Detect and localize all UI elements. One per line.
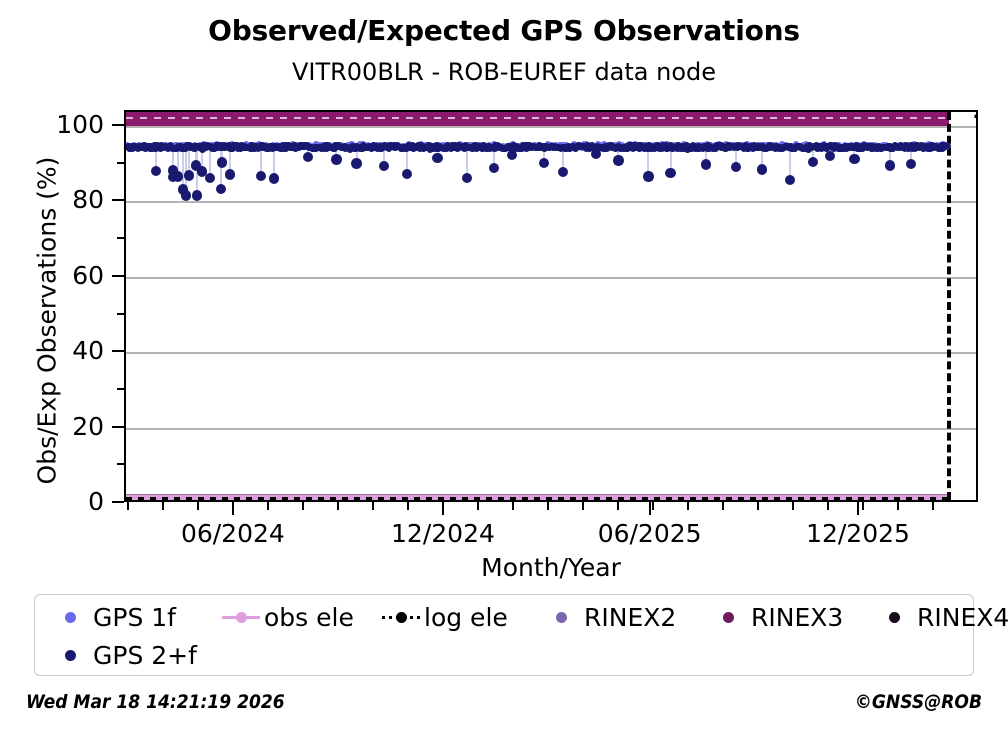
- data-point: [944, 143, 951, 150]
- data-point: [462, 173, 472, 183]
- y-tick-label: 80: [30, 187, 104, 212]
- x-tick-minor: [127, 502, 129, 510]
- data-point: [701, 159, 711, 169]
- now-label: Now: [971, 110, 978, 120]
- data-point: [205, 173, 216, 184]
- data-point: [757, 164, 767, 174]
- scatter-points: [126, 112, 976, 500]
- x-tick-minor: [337, 502, 339, 510]
- data-point: [225, 169, 236, 180]
- y-tick-minor: [117, 388, 124, 390]
- x-axis-label: Month/Year: [124, 553, 978, 582]
- x-tick-minor: [652, 502, 654, 510]
- x-tick-minor: [582, 502, 584, 510]
- y-tick-label: 100: [30, 112, 104, 137]
- legend-marker-icon: [707, 605, 749, 629]
- data-point: [906, 159, 916, 169]
- legend-marker-icon: [873, 605, 915, 629]
- x-tick-minor: [617, 502, 619, 510]
- data-point: [351, 158, 361, 168]
- data-point: [643, 171, 653, 181]
- x-tick-minor: [302, 502, 304, 510]
- data-point: [825, 151, 835, 161]
- x-tick: [649, 502, 651, 515]
- legend-item-rinex3[interactable]: RINEX3: [707, 603, 843, 632]
- legend: GPS 1fobs elelog eleRINEX2RINEX3RINEX4 G…: [34, 594, 974, 676]
- y-tick: [112, 426, 124, 428]
- data-point: [539, 158, 549, 168]
- x-tick: [442, 502, 444, 515]
- data-point: [303, 152, 313, 162]
- x-tick-minor: [722, 502, 724, 510]
- data-point: [731, 162, 741, 172]
- x-tick-minor: [897, 502, 899, 510]
- x-tick-minor: [547, 502, 549, 510]
- legend-marker-icon: [220, 605, 262, 629]
- legend-item-gps-2-f[interactable]: GPS 2+f: [49, 641, 197, 670]
- y-tick-label: 60: [30, 263, 104, 288]
- y-tick-minor: [117, 463, 124, 465]
- legend-item-label: RINEX3: [749, 603, 843, 632]
- x-tick-minor: [792, 502, 794, 510]
- y-tick: [112, 501, 124, 503]
- legend-item-gps-1f[interactable]: GPS 1f: [49, 603, 176, 632]
- now-line: [947, 112, 951, 500]
- y-axis-label: Obs/Exp Observations (%): [33, 111, 62, 531]
- data-point: [849, 154, 859, 164]
- data-point: [591, 149, 601, 159]
- x-tick-minor: [827, 502, 829, 510]
- y-tick: [112, 124, 124, 126]
- data-point: [269, 173, 279, 183]
- legend-marker-icon: [540, 605, 582, 629]
- data-point: [489, 163, 499, 173]
- page-title: Observed/Expected GPS Observations: [0, 14, 1008, 47]
- y-tick: [112, 199, 124, 201]
- data-point: [192, 190, 202, 200]
- x-tick: [232, 502, 234, 515]
- legend-item-label: GPS 2+f: [91, 641, 197, 670]
- y-tick-minor: [117, 313, 124, 315]
- chart-subtitle: VITR00BLR - ROB-EUREF data node: [0, 58, 1008, 86]
- outlier-stem: [182, 147, 184, 189]
- x-tick-minor: [372, 502, 374, 510]
- legend-item-label: log ele: [422, 603, 508, 632]
- x-tick-label: 06/2024: [153, 519, 313, 548]
- x-tick-minor: [197, 502, 199, 510]
- x-tick: [857, 502, 859, 515]
- data-point: [665, 168, 675, 178]
- x-tick-minor: [267, 502, 269, 510]
- x-tick-label: 06/2025: [570, 519, 730, 548]
- legend-item-rinex2[interactable]: RINEX2: [540, 603, 676, 632]
- legend-row: GPS 2+f: [35, 636, 973, 674]
- x-tick-minor: [862, 502, 864, 510]
- data-point: [216, 184, 226, 194]
- legend-item-label: RINEX4: [915, 603, 1008, 632]
- data-point: [507, 150, 517, 160]
- data-point: [256, 171, 266, 181]
- y-tick-label: 20: [30, 414, 104, 439]
- x-tick-minor: [687, 502, 689, 510]
- data-point: [217, 157, 228, 168]
- data-point: [331, 154, 341, 164]
- legend-marker-icon: [49, 605, 91, 629]
- footer-copyright: ©GNSS@ROB: [855, 691, 982, 713]
- x-tick-minor: [512, 502, 514, 510]
- data-point: [885, 160, 895, 170]
- x-tick-label: 12/2025: [778, 519, 938, 548]
- y-tick-label: 0: [30, 489, 104, 514]
- x-tick-minor: [757, 502, 759, 510]
- legend-row: GPS 1fobs elelog eleRINEX2RINEX3RINEX4: [35, 598, 973, 636]
- y-tick-minor: [117, 237, 124, 239]
- legend-marker-icon: [380, 605, 422, 629]
- legend-item-label: GPS 1f: [91, 603, 176, 632]
- chart-page: Observed/Expected GPS Observations VITR0…: [0, 0, 1008, 734]
- y-tick-minor: [117, 162, 124, 164]
- x-tick-label: 12/2024: [363, 519, 523, 548]
- data-point: [181, 190, 192, 201]
- legend-item-label: RINEX2: [582, 603, 676, 632]
- y-tick-label: 40: [30, 338, 104, 363]
- data-point: [151, 166, 161, 176]
- legend-item-obs-ele[interactable]: obs ele: [220, 603, 354, 632]
- data-point: [785, 175, 795, 185]
- data-point: [613, 155, 623, 165]
- data-point: [184, 170, 195, 181]
- footer-timestamp: Wed Mar 18 14:21:19 2026: [26, 691, 285, 713]
- legend-marker-icon: [49, 643, 91, 667]
- legend-item-rinex4[interactable]: RINEX4: [873, 603, 1008, 632]
- plot-area: Now: [124, 110, 978, 502]
- data-point: [432, 153, 442, 163]
- data-point: [558, 167, 568, 177]
- y-tick: [112, 350, 124, 352]
- legend-item-log-ele[interactable]: log ele: [380, 603, 508, 632]
- x-tick-minor: [407, 502, 409, 510]
- y-tick: [112, 275, 124, 277]
- data-point: [402, 169, 412, 179]
- legend-item-label: obs ele: [262, 603, 354, 632]
- x-tick-minor: [932, 502, 934, 510]
- x-tick-minor: [162, 502, 164, 510]
- x-tick-minor: [477, 502, 479, 510]
- data-point: [379, 161, 389, 171]
- data-point: [808, 157, 818, 167]
